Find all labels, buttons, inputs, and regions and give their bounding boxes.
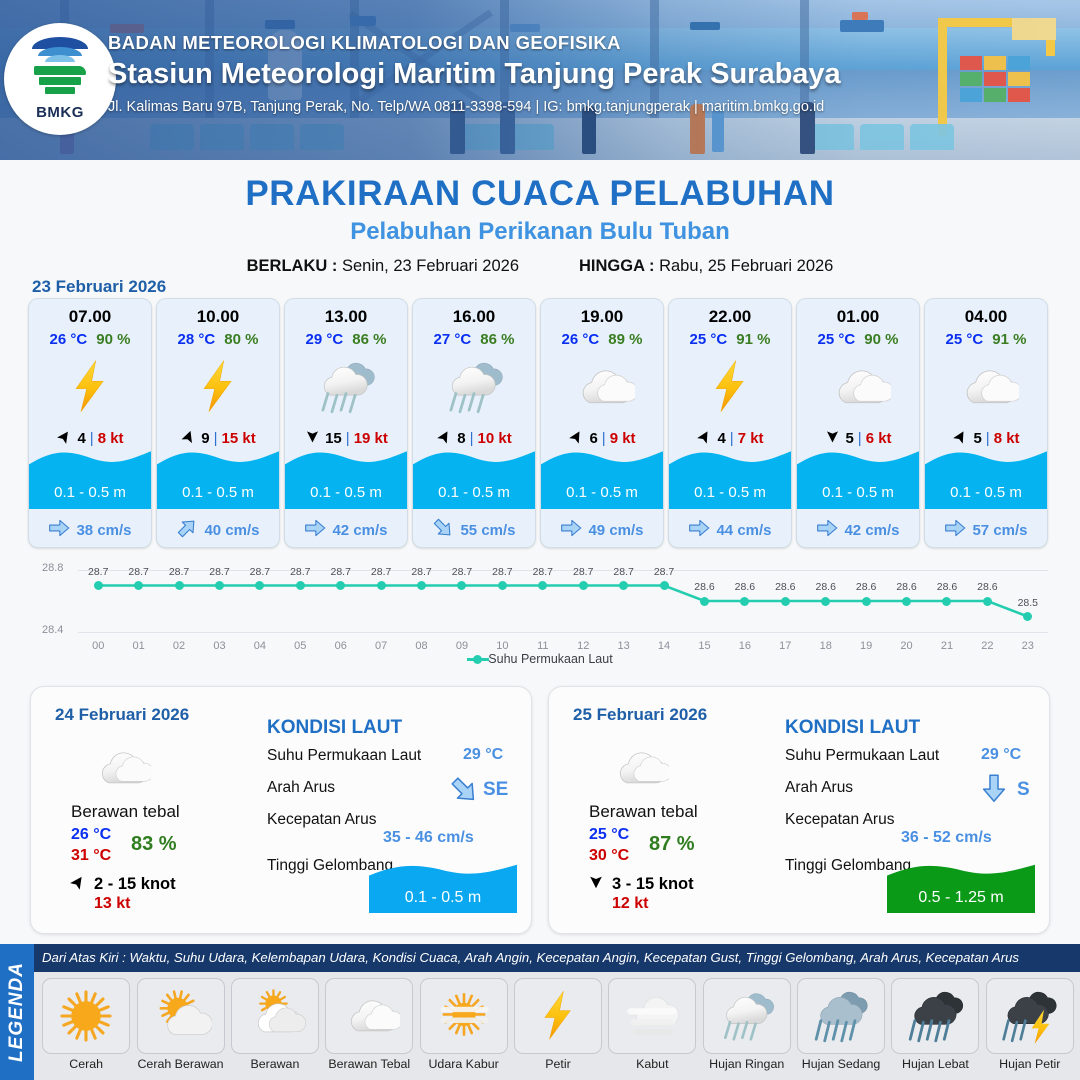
wind-direction-arrow-icon	[696, 428, 713, 449]
card-wind-gust: 15 kt	[222, 430, 256, 447]
chart-point-label: 28.7	[285, 566, 315, 578]
day2-weather-icon	[89, 737, 151, 804]
card-wave: 0.1 - 0.5 m	[669, 453, 791, 509]
hourly-card[interactable]: 10.00 28 °C 80 % 9 | 15 kt 0.1 - 0.5 m	[156, 298, 280, 548]
card-wind-separator: |	[214, 430, 218, 447]
card-weather-icon	[797, 350, 919, 424]
legend-icon-petir	[514, 978, 602, 1054]
chart-point-label: 28.7	[83, 566, 113, 578]
card-current-row: 42 cm/s	[285, 517, 407, 543]
card-wind-row: 8 | 10 kt	[413, 428, 535, 449]
chart-x-tick: 10	[490, 640, 514, 652]
valid-from: BERLAKU : Senin, 23 Februari 2026	[247, 257, 519, 276]
legend-item-label: Cerah Berawan	[137, 1057, 223, 1071]
chart-x-tick: 00	[86, 640, 110, 652]
legend-icon-cerah-berawan	[137, 978, 225, 1054]
day3-weather-icon	[607, 737, 669, 804]
card-wind-direction: 4	[717, 430, 725, 447]
validity-row: BERLAKU : Senin, 23 Februari 2026 HINGGA…	[0, 257, 1080, 276]
card-current-speed: 40 cm/s	[204, 522, 259, 539]
legend-item: Hujan Sedang	[795, 978, 887, 1080]
day3-panel: 25 Februari 2026 Berawan tebal 25 °C 30 …	[548, 686, 1050, 934]
day2-gust: 13 kt	[94, 895, 130, 913]
legend-items: Cerah Cerah Berawan Berawan	[34, 972, 1080, 1080]
card-wave-height: 0.1 - 0.5 m	[797, 484, 919, 501]
page-subtitle: Pelabuhan Perikanan Bulu Tuban	[0, 218, 1080, 246]
day2-condition: Berawan tebal	[71, 802, 180, 822]
chart-point-label: 28.7	[245, 566, 275, 578]
card-wave-height: 0.1 - 0.5 m	[669, 484, 791, 501]
chart-x-tick: 02	[167, 640, 191, 652]
card-time: 10.00	[157, 307, 279, 327]
day3-current-speed-value: 36 - 52 cm/s	[901, 829, 992, 847]
card-wind-row: 4 | 7 kt	[669, 428, 791, 449]
card-time: 16.00	[413, 307, 535, 327]
chart-y-tick: 28.8	[42, 562, 63, 574]
card-wave-height: 0.1 - 0.5 m	[413, 484, 535, 501]
chart-data-point	[983, 597, 992, 606]
chart-data-point	[377, 581, 386, 590]
card-wind-direction: 4	[77, 430, 85, 447]
card-wind-separator: |	[470, 430, 474, 447]
day2-panel: 24 Februari 2026 Berawan tebal 26 °C 31 …	[30, 686, 532, 934]
card-wind-direction: 15	[325, 430, 342, 447]
card-wave: 0.1 - 0.5 m	[413, 453, 535, 509]
card-temperature: 28 °C	[178, 331, 216, 348]
card-wind-gust: 8 kt	[994, 430, 1020, 447]
hourly-forecast-cards: 07.00 26 °C 90 % 4 | 8 kt 0.1 - 0.5 m	[28, 298, 1052, 548]
chart-data-point	[942, 597, 951, 606]
card-temp-humidity: 27 °C 86 %	[413, 331, 535, 348]
chart-x-tick: 15	[692, 640, 716, 652]
day3-condition: Berawan tebal	[589, 802, 698, 822]
card-wind-direction: 9	[201, 430, 209, 447]
legend-note: Dari Atas Kiri : Waktu, Suhu Udara, Kele…	[42, 950, 1019, 965]
card-weather-icon	[29, 350, 151, 424]
chart-point-label: 28.5	[1013, 597, 1043, 609]
current-direction-arrow-icon	[304, 517, 326, 543]
legend-icon-cerah	[42, 978, 130, 1054]
legend-icon-hujan-lebat	[891, 978, 979, 1054]
card-wave-height: 0.1 - 0.5 m	[29, 484, 151, 501]
chart-point-label: 28.7	[649, 566, 679, 578]
chart-data-point	[821, 597, 830, 606]
day3-sst-label: Suhu Permukaan Laut	[785, 747, 939, 765]
chart-data-point	[902, 597, 911, 606]
current-direction-arrow-icon	[48, 517, 70, 543]
station-address: Jl. Kalimas Baru 97B, Tanjung Perak, No.…	[108, 99, 1048, 115]
logo-text: BMKG	[36, 104, 84, 121]
card-wind-separator: |	[602, 430, 606, 447]
daily-forecast-panels: 24 Februari 2026 Berawan tebal 26 °C 31 …	[30, 686, 1050, 934]
card-temp-humidity: 26 °C 89 %	[541, 331, 663, 348]
chart-x-tick: 13	[612, 640, 636, 652]
legend-icon-kabut	[608, 978, 696, 1054]
chart-x-tick: 01	[127, 640, 151, 652]
card-humidity: 86 %	[480, 331, 514, 348]
wind-direction-arrow-icon	[69, 873, 87, 896]
wind-direction-arrow-icon	[568, 428, 585, 449]
legend-icon-udara-kabur	[420, 978, 508, 1054]
card-time: 22.00	[669, 307, 791, 327]
card-wind-separator: |	[90, 430, 94, 447]
legend-side-label: LEGENDA	[6, 962, 28, 1062]
chart-data-point	[700, 597, 709, 606]
chart-x-tick: 19	[854, 640, 878, 652]
chart-x-tick: 11	[531, 640, 555, 652]
legend-item-label: Berawan Tebal	[328, 1057, 410, 1071]
card-wind-gust: 10 kt	[478, 430, 512, 447]
hourly-card[interactable]: 22.00 25 °C 91 % 4 | 7 kt 0.1 - 0.5 m	[668, 298, 792, 548]
day3-wind-value: 3 - 15 knot	[612, 875, 694, 894]
chart-point-label: 28.6	[932, 581, 962, 593]
card-current-speed: 55 cm/s	[460, 522, 515, 539]
valid-until: HINGGA : Rabu, 25 Februari 2026	[579, 257, 833, 276]
chart-point-label: 28.7	[407, 566, 437, 578]
card-wave-height: 0.1 - 0.5 m	[157, 484, 279, 501]
chart-point-label: 28.7	[326, 566, 356, 578]
legend-item-label: Kabut	[636, 1057, 668, 1071]
header-text-block: BADAN METEOROLOGI KLIMATOLOGI DAN GEOFIS…	[108, 32, 1048, 115]
chart-point-label: 28.7	[124, 566, 154, 578]
card-current-speed: 38 cm/s	[76, 522, 131, 539]
legend-item: Berawan	[229, 978, 321, 1080]
legend-item: Kabut	[606, 978, 698, 1080]
current-direction-arrow-icon	[176, 517, 198, 543]
chart-x-tick: 14	[652, 640, 676, 652]
chart-data-point	[94, 581, 103, 590]
wind-direction-arrow-icon	[824, 428, 841, 449]
card-wind-gust: 6 kt	[866, 430, 892, 447]
day2-wave-height-badge: 0.1 - 0.5 m	[369, 867, 517, 913]
card-temp-humidity: 25 °C 90 %	[797, 331, 919, 348]
day3-current-dir-value: S	[1017, 779, 1030, 801]
current-direction-arrow-icon	[944, 517, 966, 543]
card-wind-gust: 7 kt	[738, 430, 764, 447]
wind-direction-arrow-icon	[56, 428, 73, 449]
day2-humidity: 83 %	[131, 833, 177, 856]
hourly-card[interactable]: 13.00 29 °C 86 % 15 | 19 kt 0.1 -	[284, 298, 408, 548]
card-wave: 0.1 - 0.5 m	[925, 453, 1047, 509]
hourly-card[interactable]: 19.00 26 °C 89 % 6 | 9 kt 0.1 - 0	[540, 298, 664, 548]
chart-point-label: 28.6	[851, 581, 881, 593]
legend-icon-hujan-petir	[986, 978, 1074, 1054]
card-humidity: 90 %	[96, 331, 130, 348]
page-header: BMKG BADAN METEOROLOGI KLIMATOLOGI DAN G…	[0, 0, 1080, 160]
bmkg-logo: BMKG	[4, 23, 116, 135]
card-wind-row: 4 | 8 kt	[29, 428, 151, 449]
card-temp-humidity: 25 °C 91 %	[669, 331, 791, 348]
card-wave: 0.1 - 0.5 m	[541, 453, 663, 509]
current-direction-arrow-icon	[688, 517, 710, 543]
card-wave: 0.1 - 0.5 m	[157, 453, 279, 509]
chart-x-tick: 07	[369, 640, 393, 652]
card-temperature: 25 °C	[818, 331, 856, 348]
valid-until-label: HINGGA :	[579, 257, 654, 275]
chart-data-point	[498, 581, 507, 590]
legend-item: Berawan Tebal	[323, 978, 415, 1080]
day3-temp-min: 25 °C	[589, 826, 629, 844]
day2-current-dir-label: Arah Arus	[267, 779, 335, 797]
legend-item: Cerah	[40, 978, 132, 1080]
card-temperature: 27 °C	[434, 331, 472, 348]
day3-current-direction-arrow-icon	[979, 773, 1009, 808]
chart-point-label: 28.7	[487, 566, 517, 578]
day2-wind: 2 - 15 knot	[69, 873, 176, 896]
wind-direction-arrow-icon	[587, 873, 605, 896]
legend-item: Hujan Lebat	[889, 978, 981, 1080]
legend-item: Hujan Petir	[984, 978, 1076, 1080]
wind-direction-arrow-icon	[436, 428, 453, 449]
card-wave-height: 0.1 - 0.5 m	[285, 484, 407, 501]
legend-item-label: Hujan Ringan	[709, 1057, 784, 1071]
chart-x-tick: 09	[450, 640, 474, 652]
card-current-row: 42 cm/s	[797, 517, 919, 543]
card-wind-gust: 9 kt	[610, 430, 636, 447]
chart-legend-label: Suhu Permukaan Laut	[488, 652, 612, 666]
card-weather-icon	[669, 350, 791, 424]
card-time: 04.00	[925, 307, 1047, 327]
current-direction-arrow-icon	[816, 517, 838, 543]
card-temp-humidity: 26 °C 90 %	[29, 331, 151, 348]
legend-item-label: Petir	[545, 1057, 570, 1071]
day3-gust: 12 kt	[612, 895, 648, 913]
card-time: 07.00	[29, 307, 151, 327]
chart-point-label: 28.6	[689, 581, 719, 593]
legend-item-label: Berawan	[250, 1057, 299, 1071]
card-current-row: 55 cm/s	[413, 517, 535, 543]
card-wave: 0.1 - 0.5 m	[29, 453, 151, 509]
logo-arc-icon	[32, 37, 88, 63]
card-humidity: 89 %	[608, 331, 642, 348]
card-current-speed: 57 cm/s	[972, 522, 1027, 539]
card-wind-separator: |	[346, 430, 350, 447]
card-weather-icon	[413, 350, 535, 424]
card-wave: 0.1 - 0.5 m	[285, 453, 407, 509]
card-temperature: 26 °C	[50, 331, 88, 348]
card-current-row: 49 cm/s	[541, 517, 663, 543]
card-humidity: 91 %	[992, 331, 1026, 348]
card-humidity: 90 %	[864, 331, 898, 348]
chart-x-tick: 20	[895, 640, 919, 652]
wind-direction-arrow-icon	[952, 428, 969, 449]
card-wind-row: 15 | 19 kt	[285, 428, 407, 449]
chart-gridline	[78, 632, 1048, 633]
chart-x-tick: 18	[814, 640, 838, 652]
day3-sst-value: 29 °C	[981, 746, 1021, 764]
chart-point-label: 28.6	[892, 581, 922, 593]
chart-x-tick: 21	[935, 640, 959, 652]
chart-x-tick: 17	[773, 640, 797, 652]
card-current-speed: 42 cm/s	[844, 522, 899, 539]
day2-current-speed-label: Kecepatan Arus	[267, 811, 376, 829]
card-wind-separator: |	[858, 430, 862, 447]
hourly-card[interactable]: 16.00 27 °C 86 % 8 | 10 kt 0.1 -	[412, 298, 536, 548]
page-title: PRAKIRAAN CUACA PELABUHAN	[0, 174, 1080, 214]
card-wind-row: 5 | 6 kt	[797, 428, 919, 449]
card-current-row: 38 cm/s	[29, 517, 151, 543]
legend-item-label: Cerah	[69, 1057, 103, 1071]
day3-wind: 3 - 15 knot	[587, 873, 694, 896]
day3-humidity: 87 %	[649, 833, 695, 856]
station-name: Stasiun Meteorologi Maritim Tanjung Pera…	[108, 58, 1048, 91]
card-wave-height: 0.1 - 0.5 m	[925, 484, 1047, 501]
legend-icon-hujan-sedang	[797, 978, 885, 1054]
day1-date: 23 Februari 2026	[32, 277, 166, 297]
chart-data-point	[215, 581, 224, 590]
chart-point-label: 28.7	[609, 566, 639, 578]
card-current-row: 57 cm/s	[925, 517, 1047, 543]
legend-section: LEGENDA Dari Atas Kiri : Waktu, Suhu Uda…	[0, 944, 1080, 1080]
hourly-card[interactable]: 04.00 25 °C 91 % 5 | 8 kt 0.1 - 0	[924, 298, 1048, 548]
chart-x-tick: 05	[288, 640, 312, 652]
chart-data-point	[579, 581, 588, 590]
day2-sst-label: Suhu Permukaan Laut	[267, 747, 421, 765]
card-current-speed: 42 cm/s	[332, 522, 387, 539]
chart-point-label: 28.6	[972, 581, 1002, 593]
card-current-row: 44 cm/s	[669, 517, 791, 543]
day3-sea-title: KONDISI LAUT	[785, 717, 920, 739]
card-wind-gust: 8 kt	[98, 430, 124, 447]
day2-sst-value: 29 °C	[463, 746, 503, 764]
card-time: 19.00	[541, 307, 663, 327]
chart-data-point	[862, 597, 871, 606]
card-current-speed: 44 cm/s	[716, 522, 771, 539]
card-weather-icon	[285, 350, 407, 424]
day2-wind-value: 2 - 15 knot	[94, 875, 176, 894]
chart-data-point	[660, 581, 669, 590]
card-wind-row: 5 | 8 kt	[925, 428, 1047, 449]
chart-legend: Suhu Permukaan Laut	[22, 652, 1058, 666]
card-wind-separator: |	[730, 430, 734, 447]
valid-from-value: Senin, 23 Februari 2026	[342, 257, 519, 275]
chart-point-label: 28.7	[204, 566, 234, 578]
legend-item: Petir	[512, 978, 604, 1080]
chart-point-label: 28.7	[528, 566, 558, 578]
card-temperature: 25 °C	[690, 331, 728, 348]
agency-name: BADAN METEOROLOGI KLIMATOLOGI DAN GEOFIS…	[108, 32, 1048, 54]
chart-data-point	[740, 597, 749, 606]
chart-data-point	[296, 581, 305, 590]
card-humidity: 86 %	[352, 331, 386, 348]
legend-item: Cerah Berawan	[134, 978, 226, 1080]
chart-x-tick: 12	[571, 640, 595, 652]
card-temperature: 26 °C	[562, 331, 600, 348]
wind-direction-arrow-icon	[304, 428, 321, 449]
card-temperature: 25 °C	[946, 331, 984, 348]
chart-x-tick: 22	[975, 640, 999, 652]
card-wind-direction: 5	[973, 430, 981, 447]
chart-x-tick: 04	[248, 640, 272, 652]
card-humidity: 80 %	[224, 331, 258, 348]
wave-height-value: 0.5 - 1.25 m	[887, 889, 1035, 907]
current-direction-arrow-icon	[432, 517, 454, 543]
legend-item-label: Hujan Sedang	[802, 1057, 881, 1071]
chart-x-tick: 03	[207, 640, 231, 652]
legend-item: Hujan Ringan	[701, 978, 793, 1080]
chart-point-label: 28.6	[770, 581, 800, 593]
day2-temp-min: 26 °C	[71, 826, 111, 844]
legend-side-tab: LEGENDA	[0, 944, 34, 1080]
card-humidity: 91 %	[736, 331, 770, 348]
card-weather-icon	[925, 350, 1047, 424]
sst-chart-panel: 28.828.428.70028.70128.70228.70328.70428…	[22, 560, 1058, 672]
card-wind-row: 6 | 9 kt	[541, 428, 663, 449]
wave-height-value: 0.1 - 0.5 m	[369, 889, 517, 907]
chart-point-label: 28.7	[366, 566, 396, 578]
day2-sea-title: KONDISI LAUT	[267, 717, 402, 739]
card-wind-direction: 5	[845, 430, 853, 447]
card-wind-direction: 8	[457, 430, 465, 447]
current-direction-arrow-icon	[560, 517, 582, 543]
card-wave: 0.1 - 0.5 m	[797, 453, 919, 509]
day3-current-speed-label: Kecepatan Arus	[785, 811, 894, 829]
chart-x-tick: 16	[733, 640, 757, 652]
card-wind-direction: 6	[589, 430, 597, 447]
day2-current-direction-arrow-icon	[449, 775, 479, 810]
card-weather-icon	[541, 350, 663, 424]
chart-y-tick: 28.4	[42, 624, 63, 636]
legend-icon-hujan-ringan	[703, 978, 791, 1054]
day2-date: 24 Februari 2026	[55, 705, 189, 725]
card-wind-gust: 19 kt	[354, 430, 388, 447]
day2-current-dir-value: SE	[483, 779, 508, 801]
logo-leaf-icon	[34, 66, 86, 100]
legend-item-label: Hujan Petir	[999, 1057, 1060, 1071]
chart-x-tick: 23	[1016, 640, 1040, 652]
card-temperature: 29 °C	[306, 331, 344, 348]
day3-date: 25 Februari 2026	[573, 705, 707, 725]
card-temp-humidity: 28 °C 80 %	[157, 331, 279, 348]
chart-data-point	[781, 597, 790, 606]
wind-direction-arrow-icon	[180, 428, 197, 449]
card-current-speed: 49 cm/s	[588, 522, 643, 539]
legend-icon-berawan	[231, 978, 319, 1054]
card-wind-separator: |	[986, 430, 990, 447]
valid-from-label: BERLAKU :	[247, 257, 338, 275]
legend-icon-berawan-tebal	[325, 978, 413, 1054]
chart-point-label: 28.6	[811, 581, 841, 593]
chart-data-point	[417, 581, 426, 590]
chart-x-tick: 06	[329, 640, 353, 652]
card-current-row: 40 cm/s	[157, 517, 279, 543]
day2-temp-max: 31 °C	[71, 847, 111, 865]
sst-chart-plot: 28.828.428.70028.70128.70228.70328.70428…	[78, 570, 1048, 632]
card-temp-humidity: 29 °C 86 %	[285, 331, 407, 348]
card-weather-icon	[157, 350, 279, 424]
card-time: 01.00	[797, 307, 919, 327]
day3-wave-height-badge: 0.5 - 1.25 m	[887, 867, 1035, 913]
day3-temp-max: 30 °C	[589, 847, 629, 865]
legend-item: Udara Kabur	[417, 978, 509, 1080]
card-wave-height: 0.1 - 0.5 m	[541, 484, 663, 501]
chart-point-label: 28.7	[447, 566, 477, 578]
legend-item-label: Hujan Lebat	[902, 1057, 969, 1071]
chart-point-label: 28.6	[730, 581, 760, 593]
valid-until-value: Rabu, 25 Februari 2026	[659, 257, 833, 275]
hourly-card[interactable]: 07.00 26 °C 90 % 4 | 8 kt 0.1 - 0.5 m	[28, 298, 152, 548]
legend-item-label: Udara Kabur	[428, 1057, 498, 1071]
day3-current-dir-label: Arah Arus	[785, 779, 853, 797]
chart-point-label: 28.7	[568, 566, 598, 578]
chart-legend-line	[467, 658, 489, 661]
day2-current-speed-value: 35 - 46 cm/s	[383, 829, 474, 847]
card-temp-humidity: 25 °C 91 %	[925, 331, 1047, 348]
chart-x-tick: 08	[410, 640, 434, 652]
card-time: 13.00	[285, 307, 407, 327]
card-wind-row: 9 | 15 kt	[157, 428, 279, 449]
hourly-card[interactable]: 01.00 25 °C 90 % 5 | 6 kt 0.1 - 0	[796, 298, 920, 548]
